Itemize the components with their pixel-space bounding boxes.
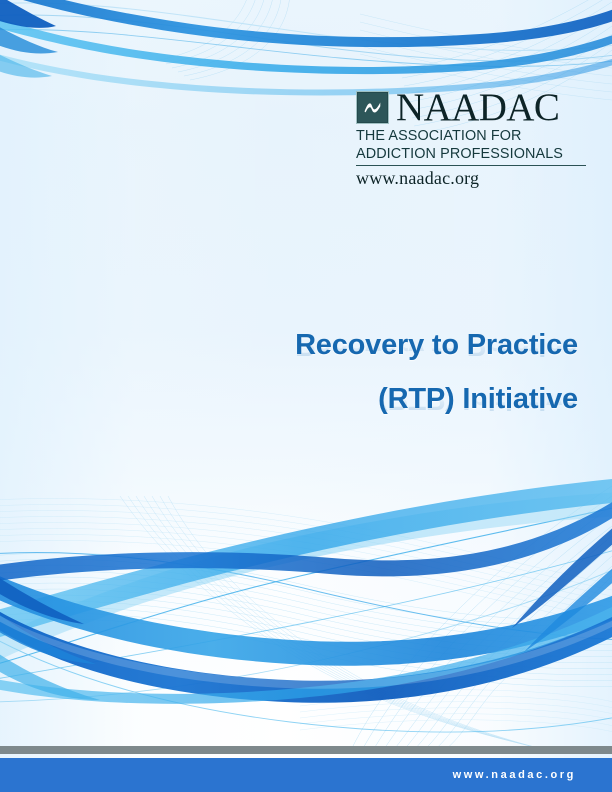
naadac-mountain-wave-mark-icon: [356, 91, 389, 124]
footer-bar: www.naadac.org: [0, 758, 612, 792]
cover-page: NAADAC THE ASSOCIATION FOR ADDICTION PRO…: [0, 0, 612, 792]
title-row-2: (RTP) Initiative (RTP) Initiative: [40, 382, 578, 436]
logo-url: www.naadac.org: [356, 169, 586, 189]
naadac-logo: NAADAC THE ASSOCIATION FOR ADDICTION PRO…: [356, 90, 586, 189]
title-line-2-reflection: (RTP) Initiative: [40, 392, 578, 416]
page-title: Recovery to Practice Recovery to Practic…: [40, 328, 578, 436]
naadac-wordmark: NAADAC: [396, 90, 559, 126]
logo-divider-rule: [356, 165, 586, 166]
logo-top-row: NAADAC: [356, 90, 586, 126]
logo-tagline-line1: THE ASSOCIATION FOR: [356, 129, 586, 145]
title-line-1-reflection: Recovery to Practice: [40, 338, 578, 362]
logo-tagline-line2: ADDICTION PROFESSIONALS: [356, 147, 586, 163]
title-row-1: Recovery to Practice Recovery to Practic…: [40, 328, 578, 382]
footer-divider-bar: [0, 746, 612, 754]
footer-url: www.naadac.org: [453, 758, 576, 792]
